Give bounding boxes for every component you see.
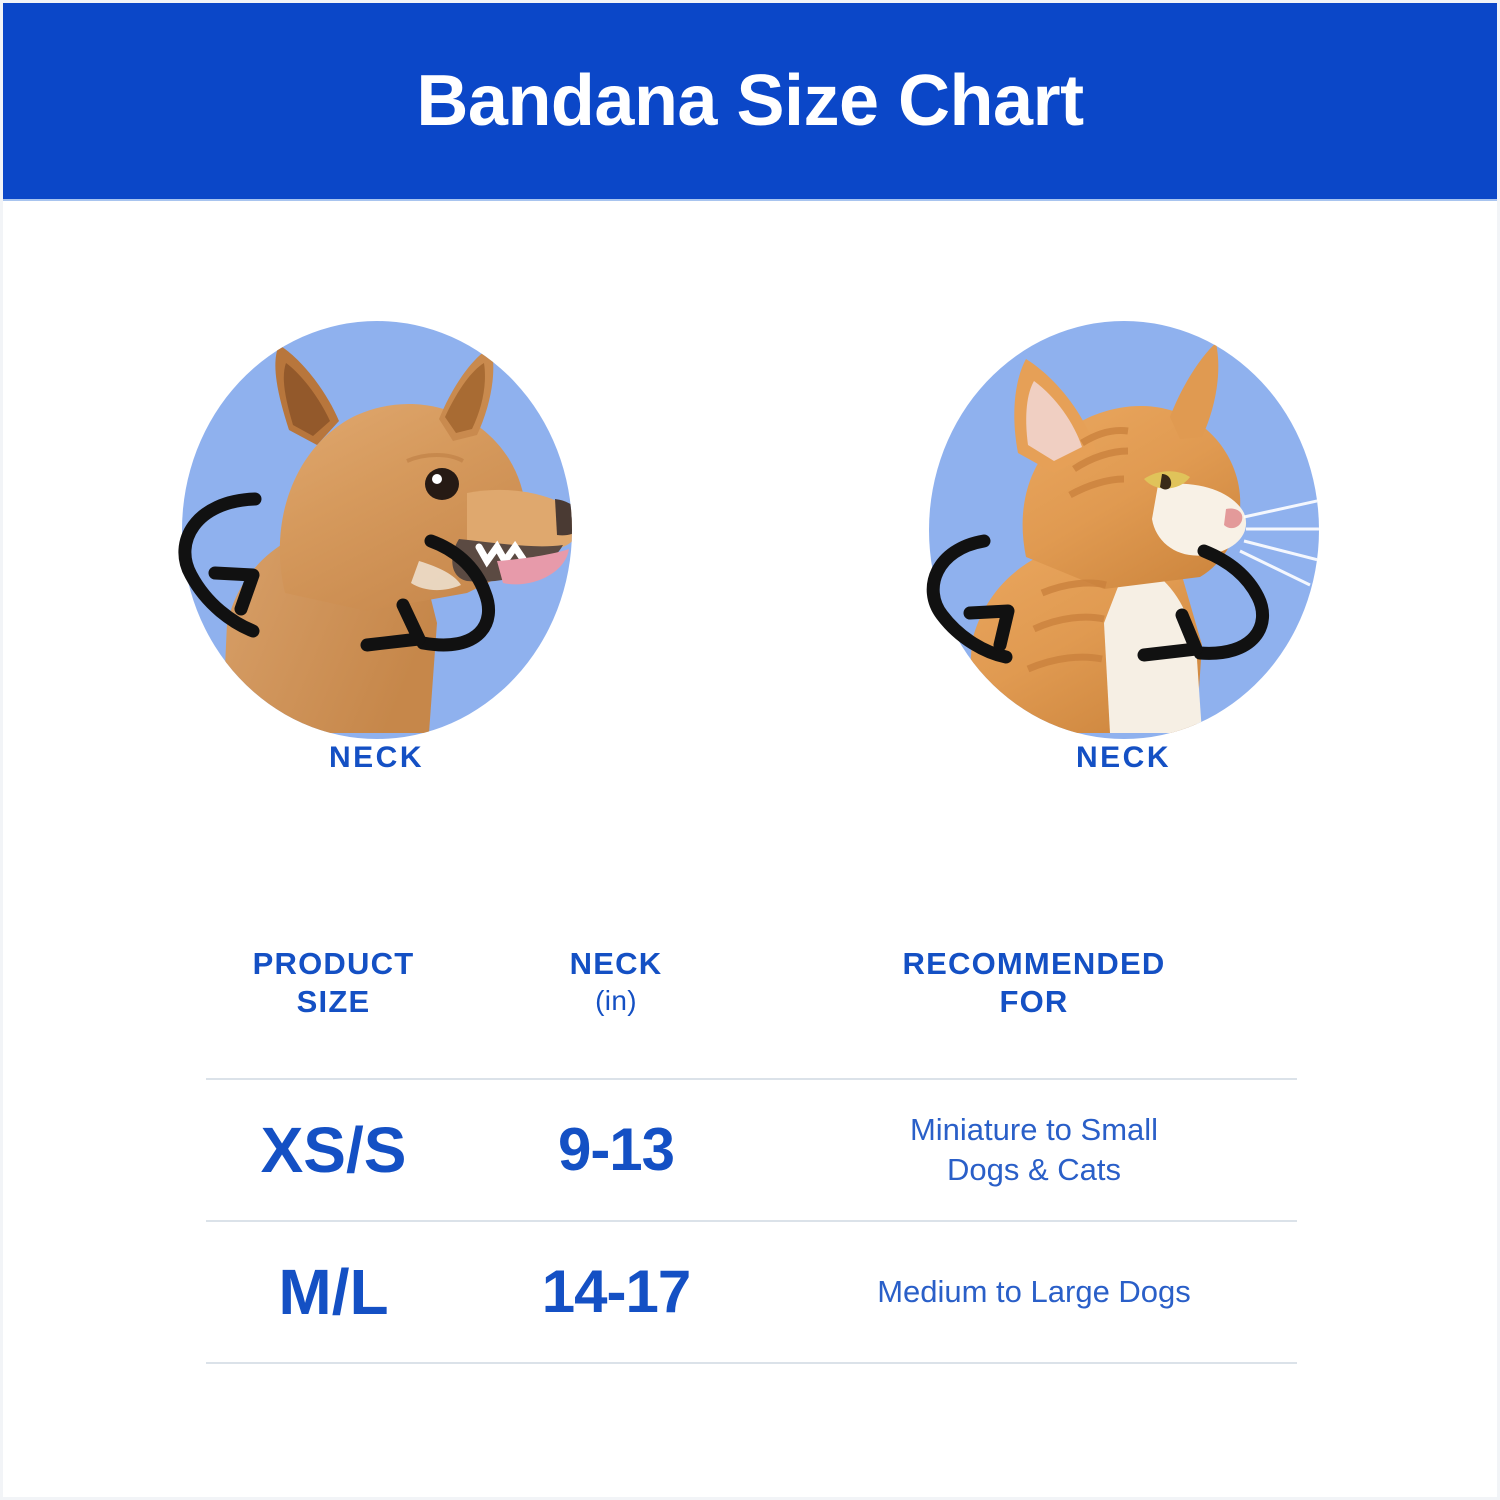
table-row: XS/S 9-13 Miniature to Small Dogs & Cats <box>206 1080 1297 1220</box>
row-1-recommended-for: Medium to Large Dogs <box>771 1222 1297 1362</box>
cat-neck-label: NECK <box>1076 741 1171 775</box>
row-0-product-size: XS/S <box>206 1080 461 1220</box>
column-header-recommended-for-line2: FOR <box>999 983 1068 1021</box>
dog-neck-label: NECK <box>329 741 424 775</box>
column-header-product-size-line1: PRODUCT <box>253 945 415 983</box>
column-header-recommended-for: RECOMMENDED FOR <box>771 933 1297 1021</box>
page-title: Bandana Size Chart <box>416 65 1083 137</box>
column-header-product-size-line2: SIZE <box>297 983 371 1021</box>
row-1-neck-value: 14-17 <box>542 1262 690 1322</box>
dog-head-icon <box>167 293 587 733</box>
cat-ear-right <box>1170 343 1218 439</box>
cat-whiskers <box>1240 499 1328 585</box>
dog-nose <box>555 499 583 535</box>
table-header-row: PRODUCT SIZE NECK (in) RECOMMENDED FOR <box>206 933 1297 1078</box>
row-1-neck: 14-17 <box>461 1222 771 1362</box>
header-banner: Bandana Size Chart <box>3 3 1497 201</box>
row-0-neck-value: 9-13 <box>558 1120 674 1180</box>
measure-panel-dog: NECK <box>3 293 750 823</box>
row-0-recommended-for-line2: Dogs & Cats <box>947 1150 1121 1190</box>
table-row: M/L 14-17 Medium to Large Dogs <box>206 1222 1297 1362</box>
dog-eye <box>425 468 459 500</box>
cat-photo-wrap <box>914 293 1334 733</box>
measurement-panels: NECK <box>3 293 1497 823</box>
row-1-recommended-for-line1: Medium to Large Dogs <box>877 1272 1191 1312</box>
column-header-recommended-for-line1: RECOMMENDED <box>903 945 1166 983</box>
row-0-product-size-value: XS/S <box>261 1118 407 1182</box>
column-header-neck-line1: NECK <box>570 945 663 983</box>
measure-panel-cat: NECK <box>750 293 1497 823</box>
row-0-neck: 9-13 <box>461 1080 771 1220</box>
row-1-product-size: M/L <box>206 1222 461 1362</box>
row-0-recommended-for: Miniature to Small Dogs & Cats <box>771 1080 1297 1220</box>
table-divider-bottom <box>206 1362 1297 1364</box>
column-header-neck-units: (in) <box>595 983 637 1018</box>
column-header-neck: NECK (in) <box>461 933 771 1018</box>
row-1-product-size-value: M/L <box>278 1260 388 1324</box>
row-0-recommended-for-line1: Miniature to Small <box>910 1110 1158 1150</box>
cat-head-icon <box>914 293 1334 733</box>
dog-photo-wrap <box>167 293 587 733</box>
column-header-product-size: PRODUCT SIZE <box>206 933 461 1021</box>
size-chart-table: PRODUCT SIZE NECK (in) RECOMMENDED FOR X… <box>206 933 1297 1364</box>
size-chart-page: Bandana Size Chart <box>0 0 1500 1500</box>
